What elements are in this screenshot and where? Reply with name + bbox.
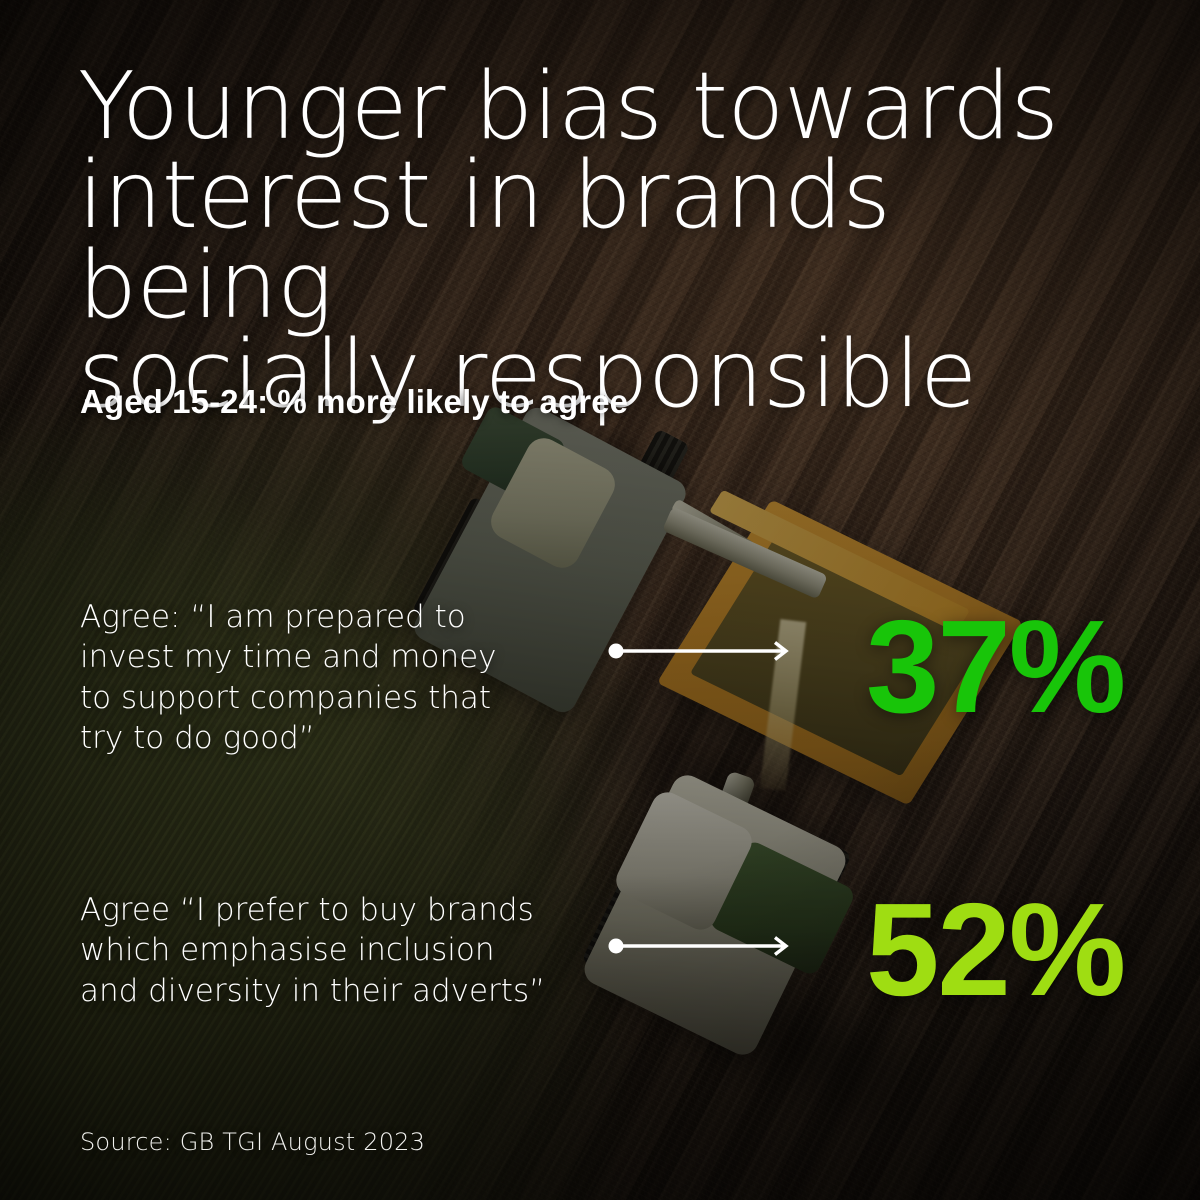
connector-arrow-2 [608,935,798,962]
arrow-right-icon [608,640,798,662]
source-note: Source: GB TGI August 2023 [80,1128,425,1156]
stat-quote-1: Agree: “I am prepared to invest my time … [80,597,600,758]
stat-value-2: 52% [866,884,1124,1016]
poster-content: Younger bias towards interest in brands … [0,0,1200,1200]
arrow-right-icon [608,935,798,957]
stat-value-1: 37% [866,601,1124,733]
stat-quote-2: Agree “I prefer to buy brands which emph… [80,890,600,1011]
page-title: Younger bias towards interest in brands … [78,62,1158,419]
connector-arrow-1 [608,640,798,667]
infographic-poster: Younger bias towards interest in brands … [0,0,1200,1200]
subtitle: Aged 15-24: % more likely to agree [80,383,628,421]
